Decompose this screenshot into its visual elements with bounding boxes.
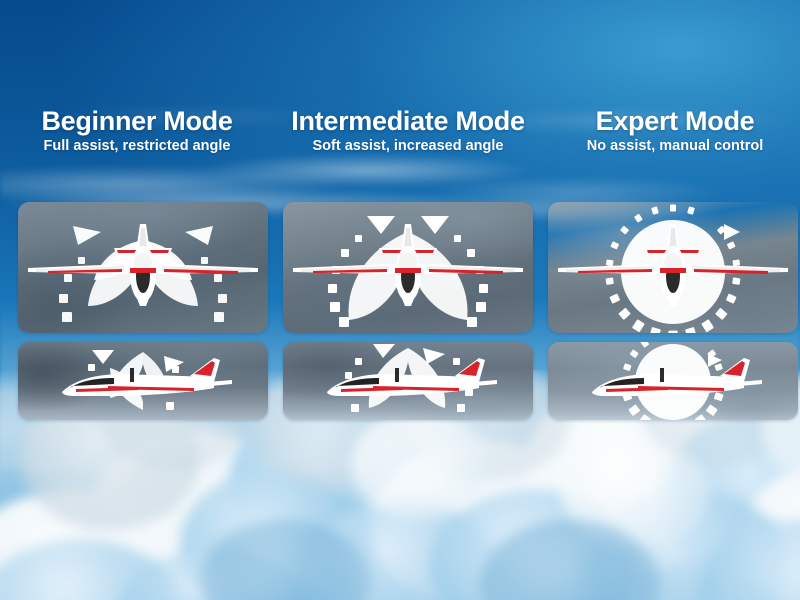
mode-subtitle-expert: No assist, manual control: [552, 139, 798, 154]
mode-headings: Beginner Mode Full assist, restricted an…: [0, 108, 800, 170]
aircraft-front-view: [293, 224, 523, 306]
mode-subtitle-intermediate: Soft assist, increased angle: [268, 139, 548, 154]
aircraft-front-view: [28, 224, 258, 306]
beginner-pitch-graphic: [18, 342, 268, 420]
panel-intermediate-roll: [283, 202, 533, 333]
mode-heading-beginner: Beginner Mode Full assist, restricted an…: [8, 108, 266, 154]
mode-heading-intermediate: Intermediate Mode Soft assist, increased…: [268, 108, 548, 154]
expert-roll-graphic: [548, 202, 798, 333]
mode-subtitle-beginner: Full assist, restricted angle: [8, 139, 266, 154]
mode-heading-expert: Expert Mode No assist, manual control: [552, 108, 798, 154]
beginner-roll-graphic: [18, 202, 268, 333]
panel-beginner-pitch: [18, 342, 268, 420]
intermediate-pitch-graphic: [283, 342, 533, 420]
expert-pitch-graphic: [548, 342, 798, 420]
cloud-puff: [350, 410, 490, 520]
aircraft-front-view: [558, 224, 788, 306]
panel-intermediate-pitch: [283, 342, 533, 420]
infographic-stage: Beginner Mode Full assist, restricted an…: [0, 0, 800, 600]
mode-title-expert: Expert Mode: [552, 108, 798, 136]
intermediate-roll-graphic: [283, 202, 533, 333]
panel-beginner-roll: [18, 202, 268, 333]
panel-expert-pitch: [548, 342, 798, 420]
mode-title-intermediate: Intermediate Mode: [268, 108, 548, 136]
arc-limit-arrow: [724, 224, 740, 240]
panel-expert-roll: [548, 202, 798, 333]
mode-title-beginner: Beginner Mode: [8, 108, 266, 136]
